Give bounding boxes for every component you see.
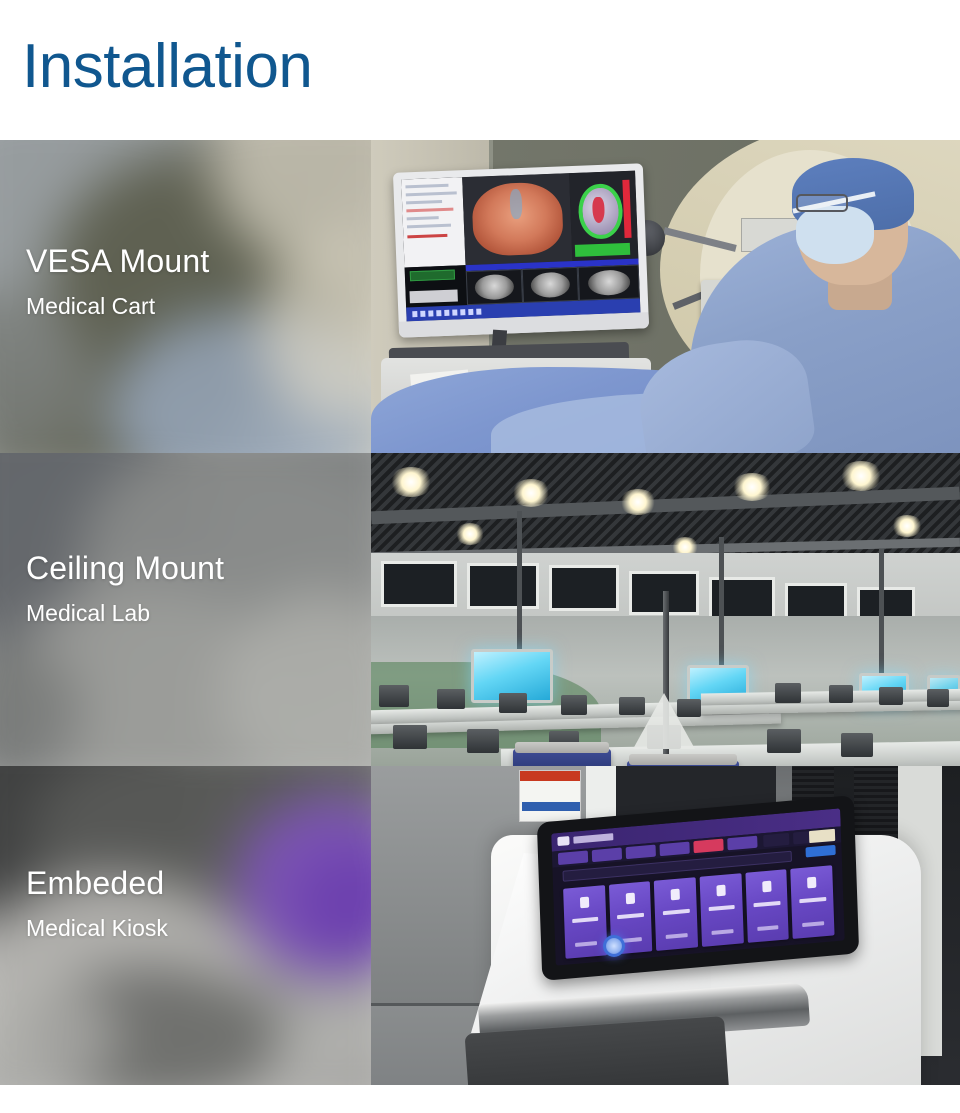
kiosk-tile[interactable] <box>745 869 789 943</box>
photo-medical-kiosk <box>371 766 960 1085</box>
installation-page: Installation VESA Mount Medical Cart <box>0 0 960 1113</box>
photo-medical-cart <box>371 140 960 453</box>
caption-title-ceiling: Ceiling Mount <box>26 551 224 586</box>
glasses-icon <box>796 194 848 212</box>
caption-ceiling-mount: Ceiling Mount Medical Lab <box>26 551 224 627</box>
blue-tray <box>513 749 611 766</box>
photo-medical-lab <box>371 453 960 766</box>
section-ceiling-mount: Ceiling Mount Medical Lab <box>0 453 960 766</box>
kiosk-tile[interactable] <box>563 885 607 959</box>
installation-rows: VESA Mount Medical Cart <box>0 140 960 1085</box>
cabinet-label <box>519 770 581 822</box>
caption-vesa-mount: VESA Mount Medical Cart <box>26 244 209 320</box>
page-title: Installation <box>22 36 960 98</box>
medical-monitor <box>393 163 649 337</box>
kiosk-tile[interactable] <box>654 877 698 951</box>
caption-pane-vesa-mount: VESA Mount Medical Cart <box>0 140 371 453</box>
caption-pane-embeded: Embeded Medical Kiosk <box>0 766 371 1085</box>
caption-subtitle-vesa: Medical Cart <box>26 293 209 320</box>
caption-subtitle-embeded: Medical Kiosk <box>26 915 168 942</box>
bottom-white-strip <box>0 1085 960 1113</box>
section-vesa-mount: VESA Mount Medical Cart <box>0 140 960 453</box>
caption-title-embeded: Embeded <box>26 866 168 901</box>
caption-subtitle-ceiling: Medical Lab <box>26 600 224 627</box>
caption-pane-ceiling-mount: Ceiling Mount Medical Lab <box>0 453 371 766</box>
kiosk-touchscreen[interactable] <box>537 795 859 981</box>
kiosk-power-logo-icon <box>603 935 625 957</box>
face-mask-icon <box>796 206 874 264</box>
kiosk-tile[interactable] <box>791 865 835 939</box>
caption-embeded: Embeded Medical Kiosk <box>26 866 168 942</box>
kiosk-tile[interactable] <box>700 873 744 947</box>
caption-title-vesa: VESA Mount <box>26 244 209 279</box>
page-header: Installation <box>0 0 960 140</box>
section-embeded: Embeded Medical Kiosk <box>0 766 960 1085</box>
